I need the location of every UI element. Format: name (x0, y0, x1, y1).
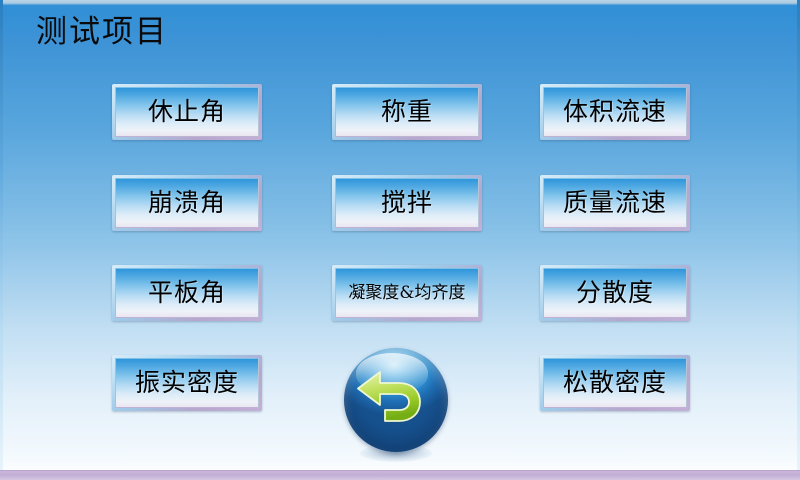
test-item-button-bulk-density[interactable]: 松散密度 (540, 355, 690, 411)
back-arrow-icon (354, 366, 432, 436)
bottom-bar (0, 470, 800, 480)
test-item-button-dispersibility[interactable]: 分散度 (540, 265, 690, 321)
button-face: 质量流速 (543, 178, 687, 228)
button-face: 凝聚度&均齐度 (335, 268, 479, 318)
button-label: 崩溃角 (148, 189, 226, 217)
back-button[interactable] (340, 348, 452, 460)
page-title: 测试项目 (36, 12, 168, 52)
button-face: 搅拌 (335, 178, 479, 228)
test-item-button-mass-flow-rate[interactable]: 质量流速 (540, 175, 690, 231)
button-face: 休止角 (115, 87, 259, 137)
button-label: 凝聚度&均齐度 (348, 279, 465, 307)
button-label: 体积流速 (563, 98, 667, 126)
test-item-button-angle-of-repose[interactable]: 休止角 (112, 84, 262, 140)
test-item-button-tapped-density[interactable]: 振实密度 (112, 355, 262, 411)
app-screen: 测试项目 休止角 称重 体积流速 崩溃角 搅拌 质量流速 平板角 (0, 0, 800, 480)
button-label: 松散密度 (563, 369, 667, 397)
button-label: 休止角 (148, 98, 226, 126)
button-label: 振实密度 (135, 369, 239, 397)
button-face: 振实密度 (115, 358, 259, 408)
button-face: 松散密度 (543, 358, 687, 408)
test-item-button-angle-of-fall[interactable]: 崩溃角 (112, 175, 262, 231)
button-face: 平板角 (115, 268, 259, 318)
window-top-edge (0, 0, 800, 5)
button-label: 平板角 (148, 279, 226, 307)
test-item-button-stirring[interactable]: 搅拌 (332, 175, 482, 231)
test-item-button-volume-flow-rate[interactable]: 体积流速 (540, 84, 690, 140)
button-face: 称重 (335, 87, 479, 137)
button-label: 分散度 (576, 279, 654, 307)
test-item-button-cohesion-uniformity[interactable]: 凝聚度&均齐度 (332, 265, 482, 321)
button-face: 分散度 (543, 268, 687, 318)
button-label: 搅拌 (381, 189, 433, 217)
test-item-button-weighing[interactable]: 称重 (332, 84, 482, 140)
button-label: 质量流速 (563, 189, 667, 217)
window-left-edge (0, 0, 3, 474)
button-face: 崩溃角 (115, 178, 259, 228)
button-face: 体积流速 (543, 87, 687, 137)
test-item-button-spatula-angle[interactable]: 平板角 (112, 265, 262, 321)
button-label: 称重 (381, 98, 433, 126)
